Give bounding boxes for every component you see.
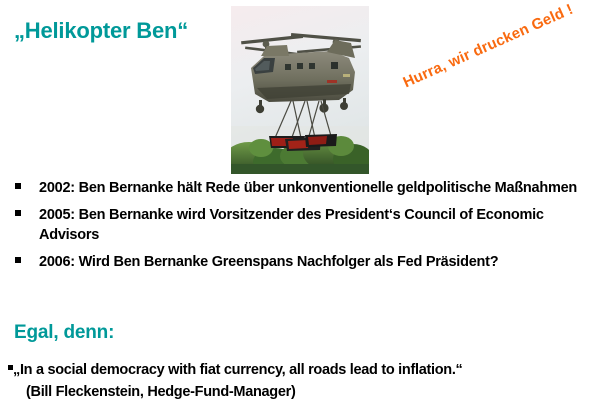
list-item: 2006: Wird Ben Bernanke Greenspans Nachf…	[0, 252, 600, 272]
helicopter-image-graphic	[231, 6, 369, 174]
square-bullet-icon	[0, 205, 24, 225]
page-title: „Helikopter Ben“	[14, 18, 188, 44]
quote-attribution: (Bill Fleckenstein, Hedge-Fund-Manager)	[8, 382, 594, 402]
list-item: 2005: Ben Bernanke wird Vorsitzender des…	[0, 205, 600, 245]
list-item-label: 2005: Ben Bernanke wird Vorsitzender des…	[24, 205, 600, 245]
quote-text: „In a social democracy with fiat currenc…	[13, 360, 463, 380]
list-item-label: 2002: Ben Bernanke hält Rede über unkonv…	[24, 178, 600, 198]
list-item: 2002: Ben Bernanke hält Rede über unkonv…	[0, 178, 600, 198]
list-item-label: 2006: Wird Ben Bernanke Greenspans Nachf…	[24, 252, 600, 272]
square-bullet-icon	[0, 252, 24, 272]
diagonal-caption: Hurra, wir drucken Geld !	[401, 0, 591, 91]
bullet-list: 2002: Ben Bernanke hält Rede über unkonv…	[0, 178, 600, 279]
section-heading: Egal, denn:	[14, 322, 114, 344]
quote-line: „In a social democracy with fiat currenc…	[8, 360, 594, 380]
quote-block: „In a social democracy with fiat currenc…	[8, 360, 594, 402]
helicopter-photo	[231, 6, 369, 174]
square-bullet-icon	[0, 178, 24, 198]
